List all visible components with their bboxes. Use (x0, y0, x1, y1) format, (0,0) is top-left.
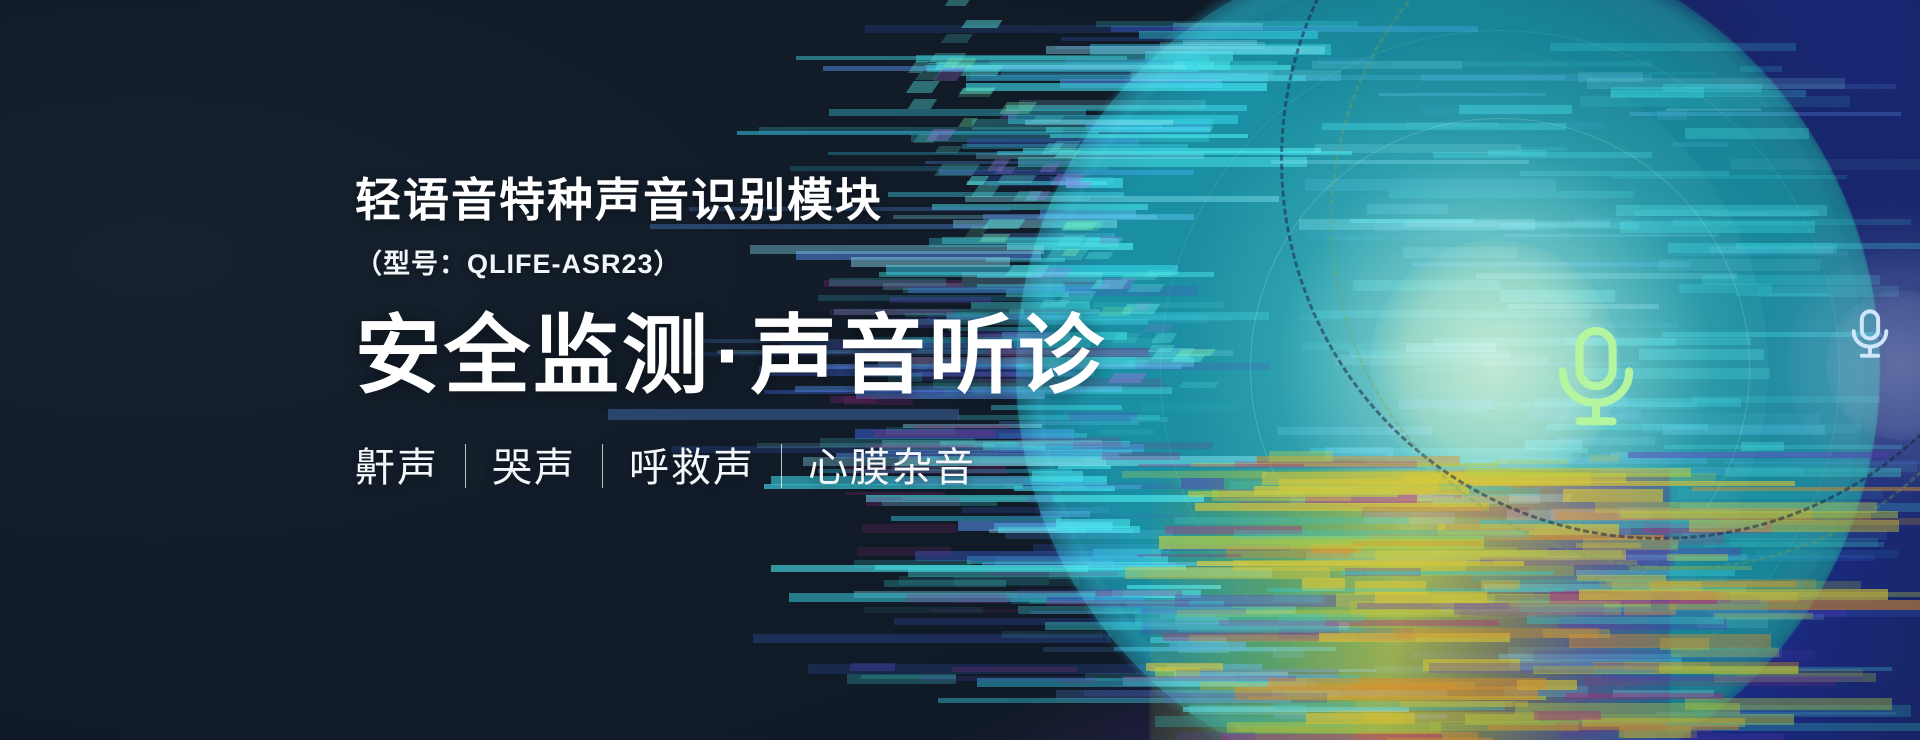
tagline-item: 呼救声 (629, 435, 755, 493)
tagline-item: 鼾声 (355, 435, 439, 493)
hero-banner: 轻语音特种声音识别模块 （型号：QLIFE-ASR23） 安全监测·声音听诊 鼾… (0, 0, 1920, 740)
tagline-separator (602, 444, 603, 488)
microphone-icon (1537, 318, 1655, 441)
tagline-separator (781, 444, 782, 488)
headline-right: 声音听诊 (751, 308, 1107, 404)
hero-copy: 轻语音特种声音识别模块 （型号：QLIFE-ASR23） 安全监测·声音听诊 鼾… (355, 175, 1107, 493)
model-number: （型号：QLIFE-ASR23） (355, 242, 1107, 281)
tagline-list: 鼾声哭声呼救声心膜杂音 (355, 435, 1107, 493)
headline: 安全监测·声音听诊 (355, 311, 1107, 401)
microphone-icon-secondary (1841, 305, 1899, 368)
headline-separator-dot: · (711, 308, 751, 404)
product-title: 轻语音特种声音识别模块 (355, 175, 1107, 226)
tagline-item: 心膜杂音 (808, 435, 976, 493)
tagline-item: 哭声 (492, 435, 576, 493)
headline-left: 安全监测 (355, 308, 711, 404)
tagline-separator (465, 444, 466, 488)
